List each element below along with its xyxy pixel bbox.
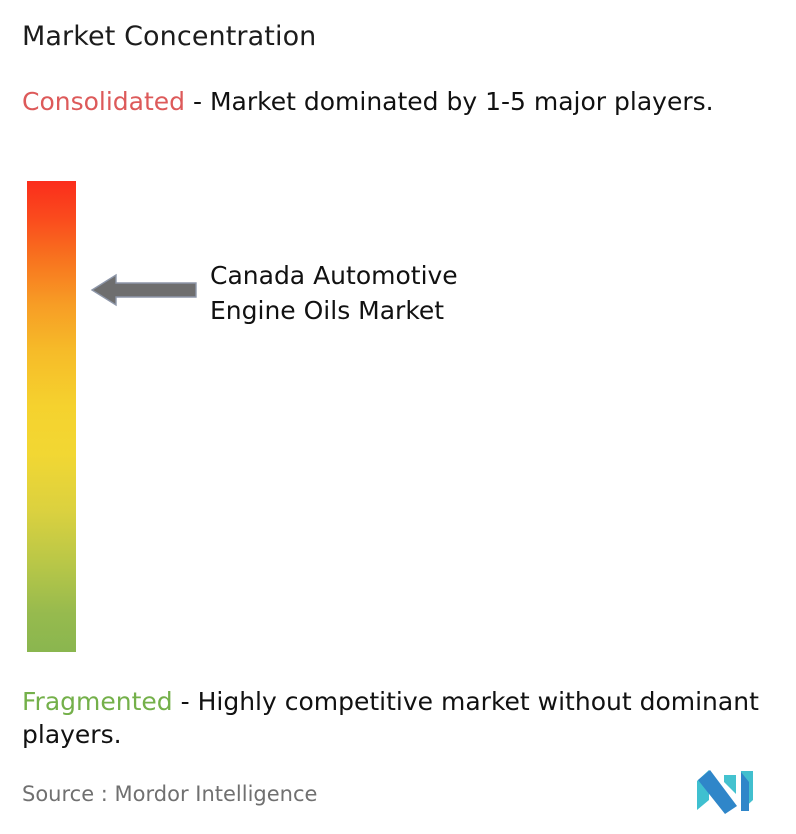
callout-arrow-icon bbox=[90, 271, 198, 309]
source-attribution: Source : Mordor Intelligence bbox=[22, 781, 317, 808]
page-title: Market Concentration bbox=[22, 20, 316, 54]
callout-label-line1: Canada Automotive bbox=[210, 258, 630, 293]
legend-fragmented: Fragmented - Highly competitive market w… bbox=[22, 685, 784, 751]
market-concentration-chart: Market Concentration Consolidated - Mark… bbox=[0, 0, 796, 834]
legend-consolidated-keyword: Consolidated bbox=[22, 87, 185, 116]
callout-label: Canada Automotive Engine Oils Market bbox=[210, 258, 630, 328]
legend-fragmented-keyword: Fragmented bbox=[22, 687, 173, 716]
legend-consolidated-description: - Market dominated by 1-5 major players. bbox=[185, 87, 714, 116]
mordor-intelligence-logo-icon bbox=[697, 770, 759, 814]
callout-label-line2: Engine Oils Market bbox=[210, 293, 630, 328]
legend-consolidated: Consolidated - Market dominated by 1-5 m… bbox=[22, 85, 766, 118]
concentration-gradient-bar bbox=[27, 181, 76, 652]
